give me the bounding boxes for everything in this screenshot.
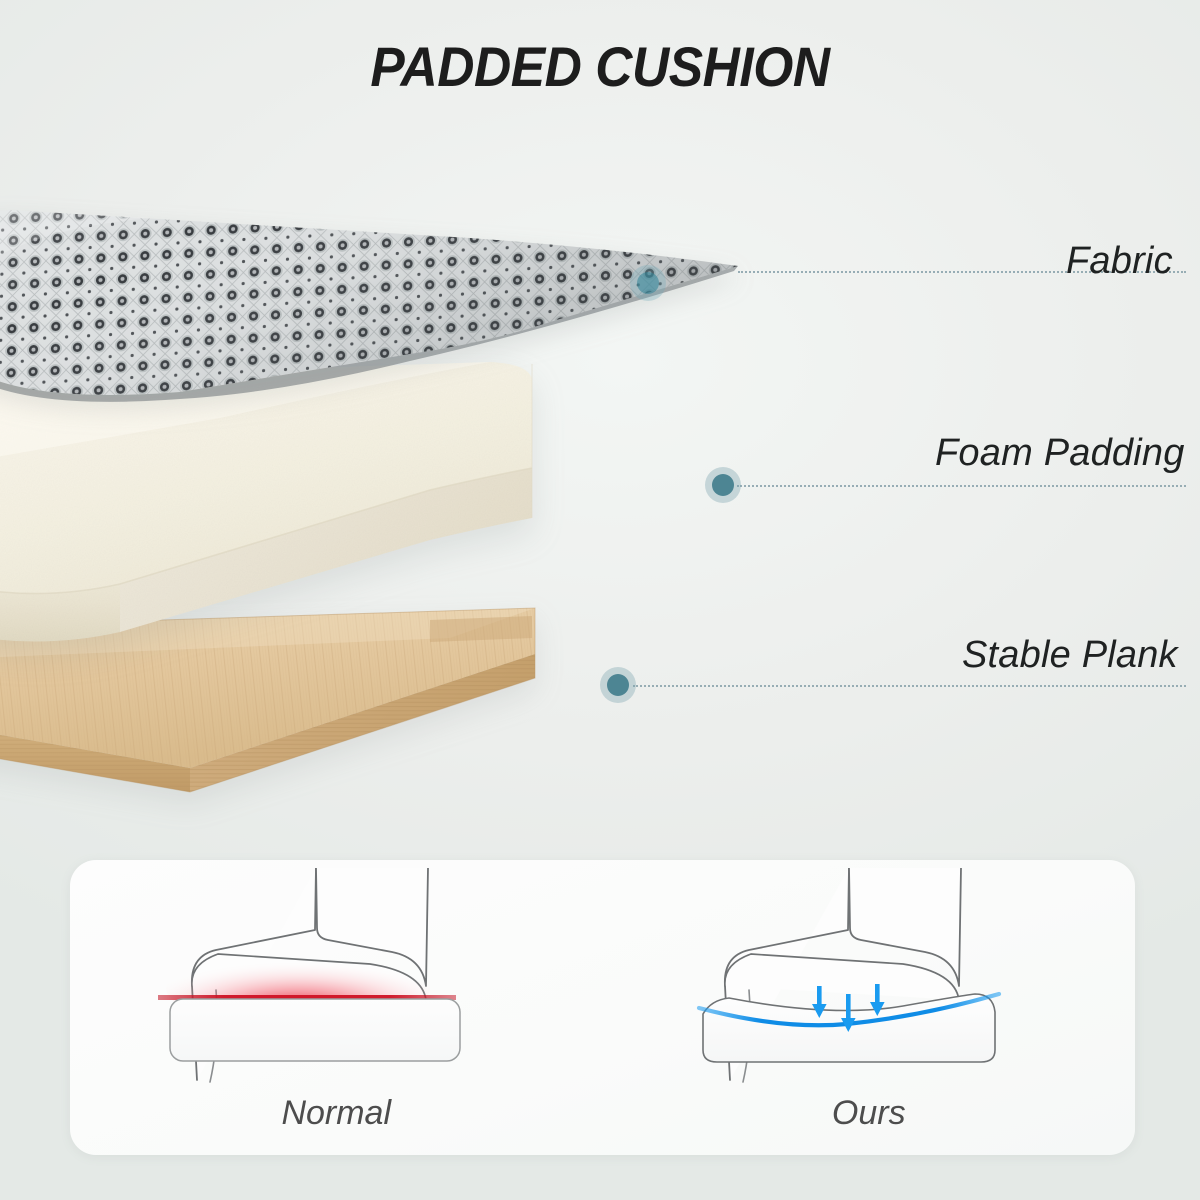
comparison-item-ours: Ours: [603, 860, 1136, 1155]
seated-person-comfort-icon: [603, 868, 1136, 1083]
comparison-caption-normal: Normal: [70, 1094, 603, 1133]
seated-person-pressure-icon: [70, 868, 603, 1083]
layer-label-stable-plank: Stable Plank: [962, 634, 1178, 677]
marker-stable-plank: [607, 674, 629, 696]
layer-label-foam-padding: Foam Padding: [935, 432, 1185, 475]
infographic-canvas: PADDED CUSHION: [0, 0, 1200, 1200]
comparison-caption-ours: Ours: [603, 1094, 1136, 1133]
comparison-item-normal: Normal: [70, 860, 603, 1155]
fabric-sheet-icon: [0, 172, 750, 412]
leader-line-foam-padding: [737, 485, 1186, 487]
exploded-layer-diagram: Fabric Foam Padding Stable Plank: [0, 0, 1200, 830]
marker-fabric: [637, 272, 659, 294]
leader-line-stable-plank: [633, 685, 1186, 687]
layer-label-fabric: Fabric: [1066, 240, 1173, 283]
marker-foam-padding: [712, 474, 734, 496]
comparison-panel: Normal: [70, 860, 1135, 1155]
